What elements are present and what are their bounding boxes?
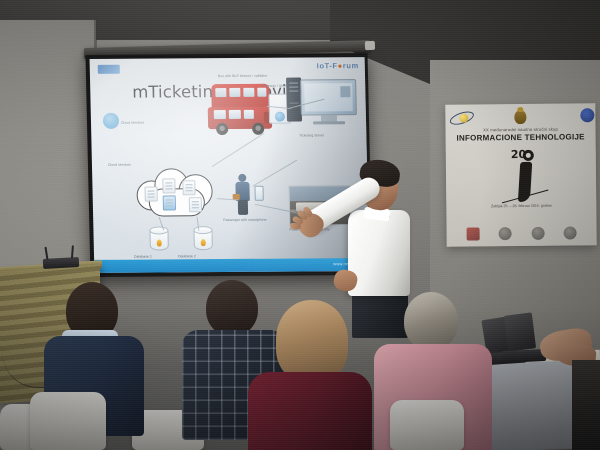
chair[interactable] bbox=[390, 400, 464, 450]
diagram-brand-label: Cloud services bbox=[121, 121, 144, 125]
bus-window bbox=[244, 110, 254, 119]
cloud-illustration bbox=[132, 170, 219, 219]
presenter-pointing-hand bbox=[295, 209, 327, 242]
saturn-ring-icon bbox=[449, 108, 475, 125]
foreground-pillar bbox=[572, 360, 600, 450]
bus-window bbox=[229, 110, 241, 119]
poster-partner-logos bbox=[447, 226, 597, 241]
bus-window bbox=[229, 88, 240, 97]
bus-illustration bbox=[205, 82, 276, 140]
poster-venue: Žabljak 25. – 28. februar 2015. godine bbox=[446, 203, 596, 210]
database-icon bbox=[149, 226, 169, 252]
bus-window bbox=[243, 88, 254, 97]
poster-title: INFORMACIONE TEHNOLOGIJE bbox=[446, 132, 596, 143]
partner-logo-3-icon bbox=[531, 227, 544, 240]
cloud-node-active bbox=[163, 195, 176, 210]
blue-circle-icon bbox=[580, 108, 594, 122]
cloud-node bbox=[182, 180, 195, 195]
database-icon bbox=[193, 226, 213, 252]
monitor-widget bbox=[340, 86, 350, 97]
partner-logo-4-icon bbox=[564, 226, 577, 239]
partner-logo-1-icon bbox=[466, 227, 479, 240]
conference-room-photo: IoT-F●rum mTicketing in Novi Sad Cloud s… bbox=[0, 0, 600, 450]
connector bbox=[252, 160, 297, 187]
poster-i-logo: 20 bbox=[499, 148, 550, 205]
roller-end-cap bbox=[365, 41, 375, 50]
cloud-caption: Cloud services bbox=[108, 163, 131, 167]
server-caption: Ticketing server bbox=[299, 133, 324, 137]
bus-window bbox=[214, 110, 226, 119]
passenger-caption: Passenger with smartphone bbox=[223, 218, 266, 223]
bus-window bbox=[215, 88, 226, 97]
connector bbox=[217, 198, 239, 200]
audience-member-3-hair bbox=[276, 300, 348, 382]
database-2-caption: Database 2 bbox=[178, 254, 196, 258]
conference-poster: XX međunarodni naučno-stručni skup INFOR… bbox=[445, 103, 596, 247]
bus-caption: Bus with BLE beacon / validator bbox=[218, 74, 268, 79]
server-workstation bbox=[286, 77, 359, 129]
cloud-node bbox=[189, 197, 202, 212]
bus-window bbox=[257, 88, 266, 97]
database-light bbox=[201, 239, 206, 246]
laptop-2-lid bbox=[504, 312, 536, 351]
wifi-router-icon bbox=[43, 257, 79, 269]
audience-member-3-top bbox=[248, 372, 372, 450]
cloud-node bbox=[144, 186, 157, 201]
monitor-screen bbox=[300, 79, 357, 115]
laptop-2-base bbox=[502, 349, 547, 363]
gateway-signal-icon bbox=[275, 112, 285, 122]
cloud-node bbox=[162, 178, 175, 193]
passenger-legs bbox=[238, 200, 248, 215]
passenger-head bbox=[238, 174, 246, 182]
poster-i-dot-icon bbox=[523, 150, 534, 161]
audience-member-4-head bbox=[404, 292, 458, 350]
state-crest-icon bbox=[511, 108, 529, 126]
diagram-brand-icon bbox=[103, 113, 119, 129]
chair[interactable] bbox=[30, 392, 106, 450]
monitor-base bbox=[313, 121, 345, 124]
smartphone-icon bbox=[254, 186, 263, 201]
database-light bbox=[157, 239, 162, 246]
audience-member-3 bbox=[246, 300, 374, 450]
presenter-shirt bbox=[348, 210, 410, 296]
bus-wheel bbox=[216, 123, 228, 135]
partner-logo-2-icon bbox=[499, 227, 512, 240]
database-1-caption: Database 1 bbox=[134, 255, 152, 259]
passenger-icon bbox=[232, 174, 253, 216]
